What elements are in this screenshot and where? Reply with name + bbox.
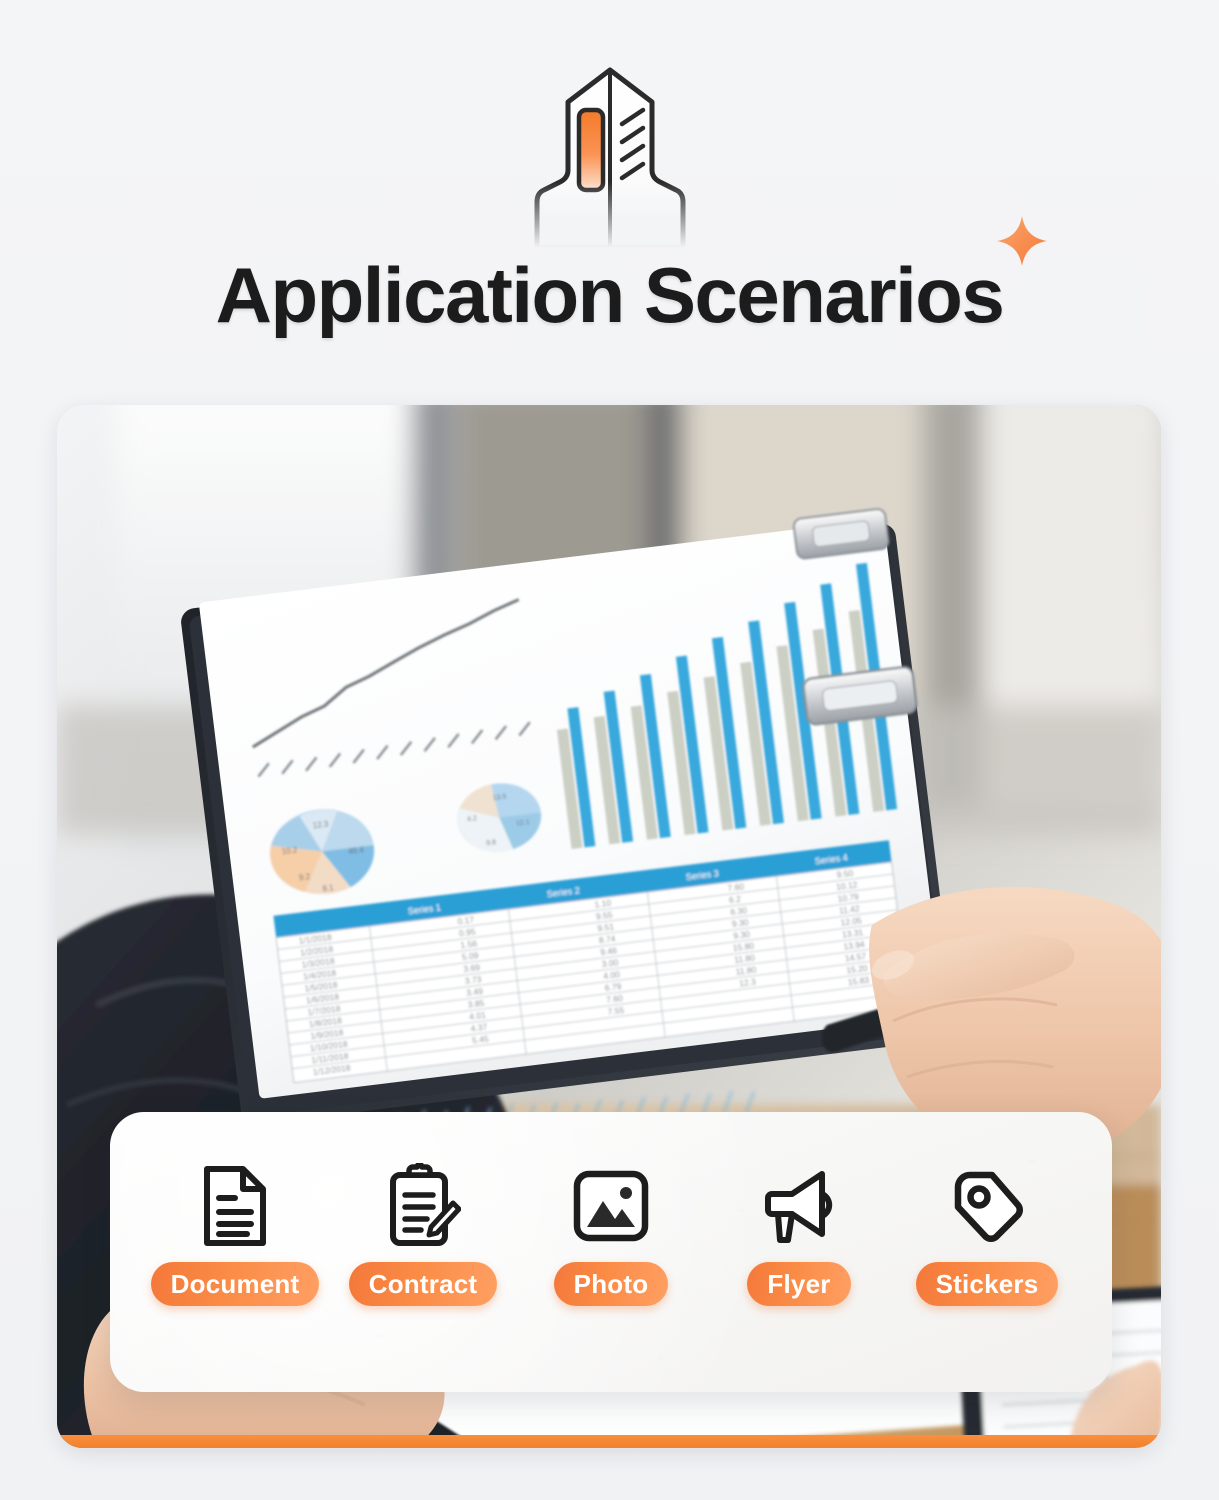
badge-label[interactable]: Stickers <box>916 1262 1059 1306</box>
application-scenarios-page: Application Scenarios <box>0 0 1219 1500</box>
page-header: Application Scenarios <box>0 0 1219 392</box>
price-tag-icon <box>948 1160 1026 1252</box>
sparkle-star-icon <box>995 214 1049 268</box>
scenario-badges-card: Document Con <box>110 1112 1112 1392</box>
document-file-icon <box>199 1160 271 1252</box>
title-row: Application Scenarios <box>216 256 1004 334</box>
badge-document[interactable]: Document <box>160 1160 310 1306</box>
badge-stickers[interactable]: Stickers <box>912 1160 1062 1306</box>
badge-label[interactable]: Document <box>151 1262 320 1306</box>
building-tower-icon <box>500 62 720 248</box>
badge-label[interactable]: Contract <box>349 1262 498 1306</box>
badge-contract[interactable]: Contract <box>348 1160 498 1306</box>
badge-flyer[interactable]: Flyer <box>724 1160 874 1306</box>
badge-list: Document Con <box>160 1160 1062 1306</box>
clipboard-pencil-icon <box>385 1160 461 1252</box>
photo-accent-bar <box>57 1435 1161 1448</box>
image-picture-icon <box>572 1160 650 1252</box>
badge-photo[interactable]: Photo <box>536 1160 686 1306</box>
page-title: Application Scenarios <box>216 256 1004 334</box>
megaphone-icon <box>758 1160 840 1252</box>
badge-label[interactable]: Flyer <box>747 1262 850 1306</box>
badge-label[interactable]: Photo <box>554 1262 669 1306</box>
